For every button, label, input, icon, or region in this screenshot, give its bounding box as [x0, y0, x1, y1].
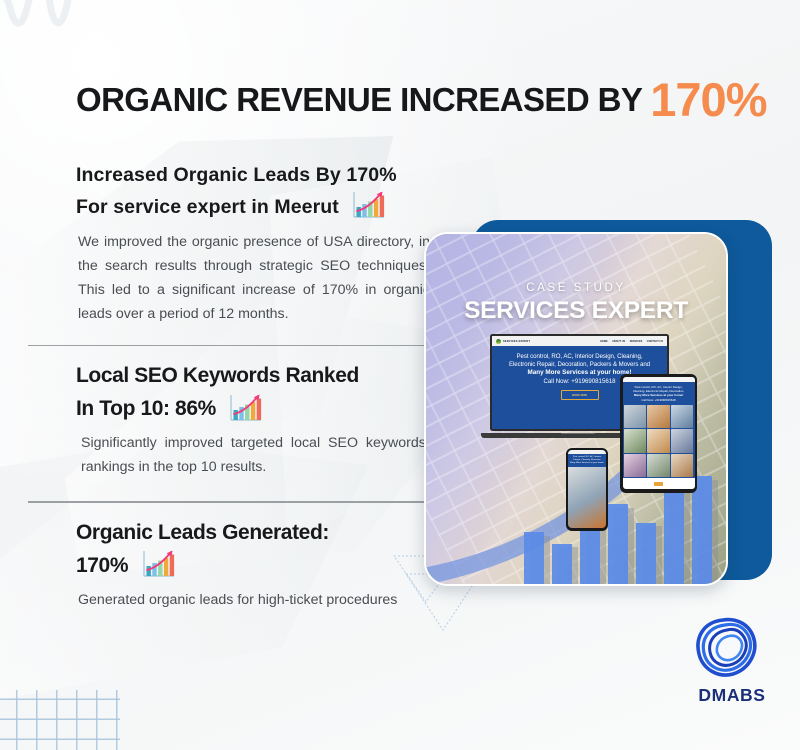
showcase-kicker: CASE STUDY — [426, 282, 726, 294]
grid-photo — [671, 405, 693, 428]
website-navbar: SERVICES EXPERT HOME ABOUT US SERVICES C… — [492, 336, 667, 346]
grid-pattern-decoration — [0, 690, 120, 750]
website-logo: SERVICES EXPERT — [496, 339, 530, 344]
tablet-screen: Pest control, RO, AC, Interior Design, C… — [623, 377, 695, 489]
stat-heading-line-2: In Top 10: 86% — [76, 397, 216, 420]
nav-link-services[interactable]: SERVICES — [630, 340, 643, 343]
infographic-canvas: ORGANIC REVENUE INCREASED BY170% Increas… — [0, 0, 800, 750]
brand-logo: DMABS — [682, 614, 782, 704]
nav-link-about-us[interactable]: ABOUT US — [612, 340, 625, 343]
phone-mockup: Pest control, RO, AC, Interior Design, C… — [566, 448, 608, 531]
stat-block-heading: Organic Leads Generated: 170% — [28, 516, 434, 582]
stat-block-local-seo: Local SEO Keywords Ranked In Top 10: 86%… — [28, 359, 434, 479]
stat-block-leads-generated: Organic Leads Generated: 170% Generated … — [28, 516, 434, 612]
showcase-card[interactable]: CASE STUDY SERVICES EXPERT SERVICES EXPE… — [424, 232, 728, 586]
stat-heading-line-1: Increased Organic Leads By 170% — [76, 164, 397, 186]
website-nav-links: HOME ABOUT US SERVICES CONTACT US — [600, 340, 663, 343]
section-divider-1 — [28, 345, 432, 346]
stat-block-body: Generated organic leads for high-ticket … — [28, 582, 408, 612]
corner-squiggle-watermark — [0, 0, 108, 54]
phone-hero-line-4: Many More Services at your home! — [570, 462, 605, 465]
tablet-photo-grid — [623, 404, 695, 479]
hero-line-2: Electronic Repair, Decoration, Packers &… — [497, 361, 662, 369]
nav-link-contact-us[interactable]: CONTACT US — [647, 340, 663, 343]
tablet-mockup: Pest control, RO, AC, Interior Design, C… — [620, 374, 697, 493]
tablet-hero: Pest control, RO, AC, Interior Design, C… — [623, 382, 695, 403]
tablet-hero-line-5: Call Now: +919690815618 — [626, 398, 692, 402]
phone-hero-image — [568, 467, 606, 529]
grid-photo — [624, 454, 646, 477]
stat-block-heading: Local SEO Keywords Ranked In Top 10: 86% — [28, 359, 434, 425]
tablet-footer — [623, 478, 695, 489]
grid-photo — [647, 405, 669, 428]
grid-photo — [671, 429, 693, 452]
grid-photo — [647, 454, 669, 477]
dmabs-d-mark-icon — [693, 614, 771, 682]
stat-block-organic-leads: Increased Organic Leads By 170% For serv… — [28, 160, 434, 326]
stat-heading-line-2: For service expert in Meerut — [76, 196, 339, 218]
hero-cta-button[interactable]: BOOK NOW — [561, 390, 599, 400]
phone-screen: Pest control, RO, AC, Interior Design, C… — [568, 450, 606, 528]
stat-heading-line-1: Organic Leads Generated: — [76, 521, 329, 544]
tablet-hero-line-4: Many More Services at your home! — [626, 393, 692, 397]
bar-chart-increasing-icon — [228, 393, 262, 423]
section-divider-2 — [28, 501, 432, 502]
page-title: ORGANIC REVENUE INCREASED BY170% — [76, 76, 776, 123]
stat-heading-line-1: Local SEO Keywords Ranked — [76, 364, 359, 387]
logo-mark-icon — [496, 339, 501, 344]
showcase-title: SERVICES EXPERT — [426, 297, 726, 325]
grid-photo — [624, 429, 646, 452]
headline-highlight: 170% — [650, 73, 766, 126]
website-brand-name: SERVICES EXPERT — [503, 340, 530, 343]
bar-chart-increasing-icon — [351, 190, 385, 220]
hero-line-1: Pest control, RO, AC, Interior Design, C… — [497, 353, 662, 361]
stat-block-heading: Increased Organic Leads By 170% For serv… — [28, 160, 434, 222]
phone-hero: Pest control, RO, AC, Interior Design, C… — [568, 454, 606, 467]
stat-heading-line-2: 170% — [76, 554, 128, 577]
nav-link-home[interactable]: HOME — [600, 340, 608, 343]
headline-text: ORGANIC REVENUE INCREASED BY — [76, 81, 642, 118]
brand-wordmark: DMABS — [682, 685, 782, 706]
tablet-footer-button[interactable] — [654, 482, 663, 485]
grid-photo — [624, 405, 646, 428]
stat-block-body: Significantly improved targeted local SE… — [28, 425, 429, 479]
hero-cta-label: BOOK NOW — [572, 394, 587, 397]
grid-photo — [671, 454, 693, 477]
bar-chart-increasing-icon — [141, 549, 175, 579]
grid-photo — [647, 429, 669, 452]
stat-block-body: We improved the organic presence of USA … — [28, 222, 430, 326]
stats-column: Increased Organic Leads By 170% For serv… — [28, 160, 434, 612]
